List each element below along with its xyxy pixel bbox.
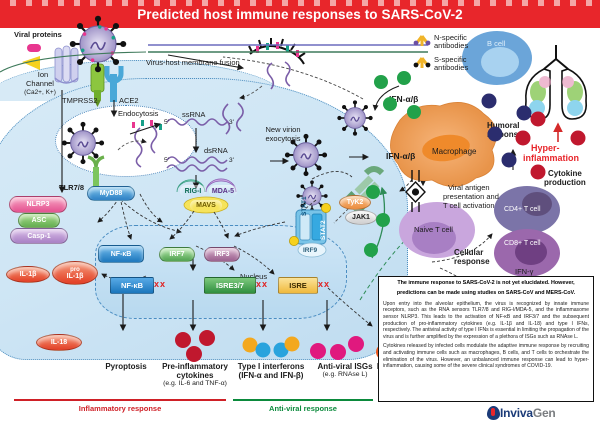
node-irf3: IRF3 xyxy=(204,247,240,262)
label-hyper-inflammation-1: Hyper- xyxy=(531,143,560,153)
nucleus xyxy=(95,225,347,319)
node-nfkb-cytoplasmic: NF-κB xyxy=(98,245,144,263)
label-cellular-response-1: Cellular xyxy=(454,248,483,257)
label-ssrna-5prime: 5' xyxy=(164,119,169,126)
infobox-heading-1: The immune response to SARS-CoV-2 is not… xyxy=(383,280,589,287)
label-b-cell: B cell xyxy=(487,40,505,49)
label-antigen-presentation-3: T cell activation xyxy=(443,202,495,211)
label-cellular-response-2: response xyxy=(454,257,490,266)
node-irf9: IRF9 xyxy=(303,247,317,254)
label-hyper-inflammation-2: inflammation xyxy=(523,153,579,163)
brand-name-1: Inviva xyxy=(500,406,533,420)
legend-inflammatory-response: Inflammatory response xyxy=(14,404,226,413)
explanatory-textbox: The immune response to SARS-CoV-2 is not… xyxy=(378,276,594,402)
label-dsrna: dsRNA xyxy=(204,147,228,156)
label-macrophage: Macrophage xyxy=(432,147,476,156)
label-ssrna: ssRNA xyxy=(182,111,205,120)
node-pro-il1b-label: IL-1β xyxy=(67,273,84,280)
label-endocytosis: Endocytosis xyxy=(118,110,158,119)
label-naive-t-cell: Naive T cell xyxy=(414,226,453,235)
node-mavs: MAVS xyxy=(190,200,222,211)
label-humoral-response-2: response xyxy=(487,130,523,139)
macrophage-icon xyxy=(390,102,496,186)
node-pro-il1b: pro IL-1β xyxy=(52,261,98,285)
label-ifn-ab-left: IFN-α/β xyxy=(386,152,415,162)
node-asc: ASC xyxy=(18,213,60,228)
legend-rule-inflammatory xyxy=(14,399,226,401)
node-nlrp3: NLRP3 xyxy=(9,196,67,213)
dna-box-isre: ISRE xyxy=(278,277,318,294)
label-viral-proteins: Viral proteins xyxy=(14,31,62,40)
legend-anti-viral-response: Anti-viral response xyxy=(233,404,373,413)
mhc-tcr-complex-icon xyxy=(406,170,425,212)
label-humoral-response-1: Humoral xyxy=(487,121,519,130)
node-jak1: JAK1 xyxy=(345,210,377,225)
infobox-heading-2: predictions can be made using studies on… xyxy=(383,290,589,297)
node-stat2: STAT2 xyxy=(320,220,327,240)
invivogen-logo-mark-icon xyxy=(487,406,500,420)
legend-rule-antiviral xyxy=(233,399,373,401)
lungs-icon xyxy=(526,45,586,119)
dna-marks-isre: xx xyxy=(318,279,330,289)
label-ssrna-3prime: 3' xyxy=(229,119,234,126)
brand-name-2: Gen xyxy=(533,406,556,420)
node-il1b: IL-1β xyxy=(6,266,50,283)
label-cytokine-production-1: Cytokine xyxy=(548,169,582,178)
label-ifn-ab-top: IFN-α/β xyxy=(389,95,418,105)
label-ion-channel-2: Channel xyxy=(10,80,70,89)
node-stat1: STAT1 xyxy=(301,196,308,216)
label-cd8-t-cell: CD8+ T cell xyxy=(504,240,541,248)
label-membrane-fusion: Virus-host membrane fusion xyxy=(146,59,240,68)
infobox-paragraph-1: Upon entry into the alveolar epithelium,… xyxy=(383,301,589,341)
label-exocytosis: exocytosis xyxy=(255,135,311,144)
dna-box-nfkb: NF-κB xyxy=(110,277,154,294)
label-cytokine-production-2: production xyxy=(544,178,586,187)
page-title: Predicted host immune responses to SARS-… xyxy=(0,7,600,22)
s-specific-antibody-icon xyxy=(414,58,431,68)
invivogen-logo: InvivaGen xyxy=(500,406,556,420)
label-dsrna-5prime: 5' xyxy=(164,157,169,164)
dna-marks-nfkb: xx xyxy=(154,279,166,289)
label-tlr78: TLR7/8 xyxy=(59,184,84,193)
label-cd4-t-cell: CD4+ T cell xyxy=(504,206,541,214)
node-myd88: MyD88 xyxy=(87,186,135,201)
infographic-canvas: Predicted host immune responses to SARS-… xyxy=(0,0,600,429)
label-s-antibodies-2: antibodies xyxy=(434,64,468,73)
macrophage-ifnar-icon xyxy=(414,136,434,161)
node-tyk2: TyK2 xyxy=(339,195,371,210)
label-dsrna-3prime: 3' xyxy=(229,157,234,164)
label-n-antibodies-2: antibodies xyxy=(434,42,468,51)
node-il18: IL-18 xyxy=(36,334,82,351)
output-cytokines-sub2: (e.g. IL-6 and TNF-α) xyxy=(145,380,245,388)
node-irf7: IRF7 xyxy=(159,247,195,262)
node-mda5: MDA-5 xyxy=(209,185,237,197)
label-tmprss2: TMPRSS2 xyxy=(62,97,97,106)
infobox-paragraph-2: Cytokines released by infected cells mod… xyxy=(383,343,589,369)
dna-marks-isre37: xx xyxy=(256,279,268,289)
label-ace2: ACE2 xyxy=(119,97,139,106)
dna-box-isre37: ISRE3/7 xyxy=(204,277,256,294)
node-rigi: RIG-I xyxy=(180,185,206,197)
n-specific-antibody-icon xyxy=(414,36,431,46)
node-casp1: Casp-1 xyxy=(10,228,68,244)
